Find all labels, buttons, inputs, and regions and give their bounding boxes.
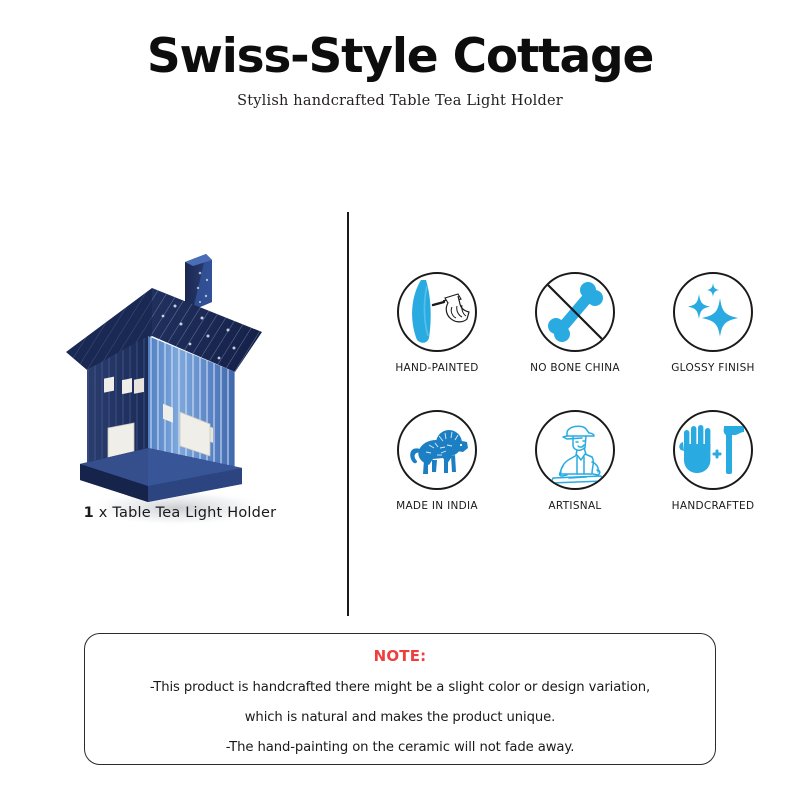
product-caption: 1 x Table Tea Light Holder [30, 505, 330, 521]
handcrafted-hand-hammer-icon [675, 412, 751, 488]
chimney [185, 254, 212, 310]
badge-circle [397, 410, 477, 490]
badge-circle [535, 410, 615, 490]
badge-circle [535, 272, 615, 352]
badge-artisnal: ARTISNAL [510, 410, 640, 512]
product-image [30, 240, 330, 540]
badge-made-in-india: MADE IN INDIA [372, 410, 502, 512]
page-title: Swiss-Style Cottage [0, 32, 800, 81]
note-box: NOTE: -This product is handcrafted there… [84, 633, 716, 765]
note-line-2: which is natural and makes the product u… [85, 710, 715, 725]
hand-painted-icon [399, 274, 475, 350]
product-infographic-page: Swiss-Style Cottage Stylish handcrafted … [0, 0, 800, 800]
badge-hand-painted: HAND-PAINTED [372, 272, 502, 374]
no-bone-china-icon [537, 274, 613, 350]
vertical-divider [347, 212, 349, 616]
product-caption-text: x Table Tea Light Holder [94, 505, 276, 521]
product-quantity: 1 [84, 505, 94, 521]
note-line-1: -This product is handcrafted there might… [85, 680, 715, 695]
badge-label: NO BONE CHINA [510, 362, 640, 374]
badge-circle [673, 272, 753, 352]
badge-glossy-finish: GLOSSY FINISH [648, 272, 778, 374]
badge-label: MADE IN INDIA [372, 500, 502, 512]
glossy-finish-icon [675, 274, 751, 350]
made-in-india-lion-icon [399, 412, 475, 488]
badge-label: ARTISNAL [510, 500, 640, 512]
badge-circle [397, 272, 477, 352]
badge-label: GLOSSY FINISH [648, 362, 778, 374]
page-subtitle: Stylish handcrafted Table Tea Light Hold… [0, 93, 800, 109]
header: Swiss-Style Cottage Stylish handcrafted … [0, 32, 800, 109]
badge-circle [673, 410, 753, 490]
cottage-tealight-holder-illustration [30, 240, 330, 540]
feature-badges: HAND-PAINTED NO BONE CHINA [368, 272, 782, 512]
badge-handcrafted: HANDCRAFTED [648, 410, 778, 512]
artisan-icon [537, 412, 613, 488]
note-title: NOTE: [85, 647, 715, 665]
badge-label: HAND-PAINTED [372, 362, 502, 374]
note-line-3: -The hand-painting on the ceramic will n… [85, 740, 715, 755]
badge-no-bone-china: NO BONE CHINA [510, 272, 640, 374]
badge-label: HANDCRAFTED [648, 500, 778, 512]
